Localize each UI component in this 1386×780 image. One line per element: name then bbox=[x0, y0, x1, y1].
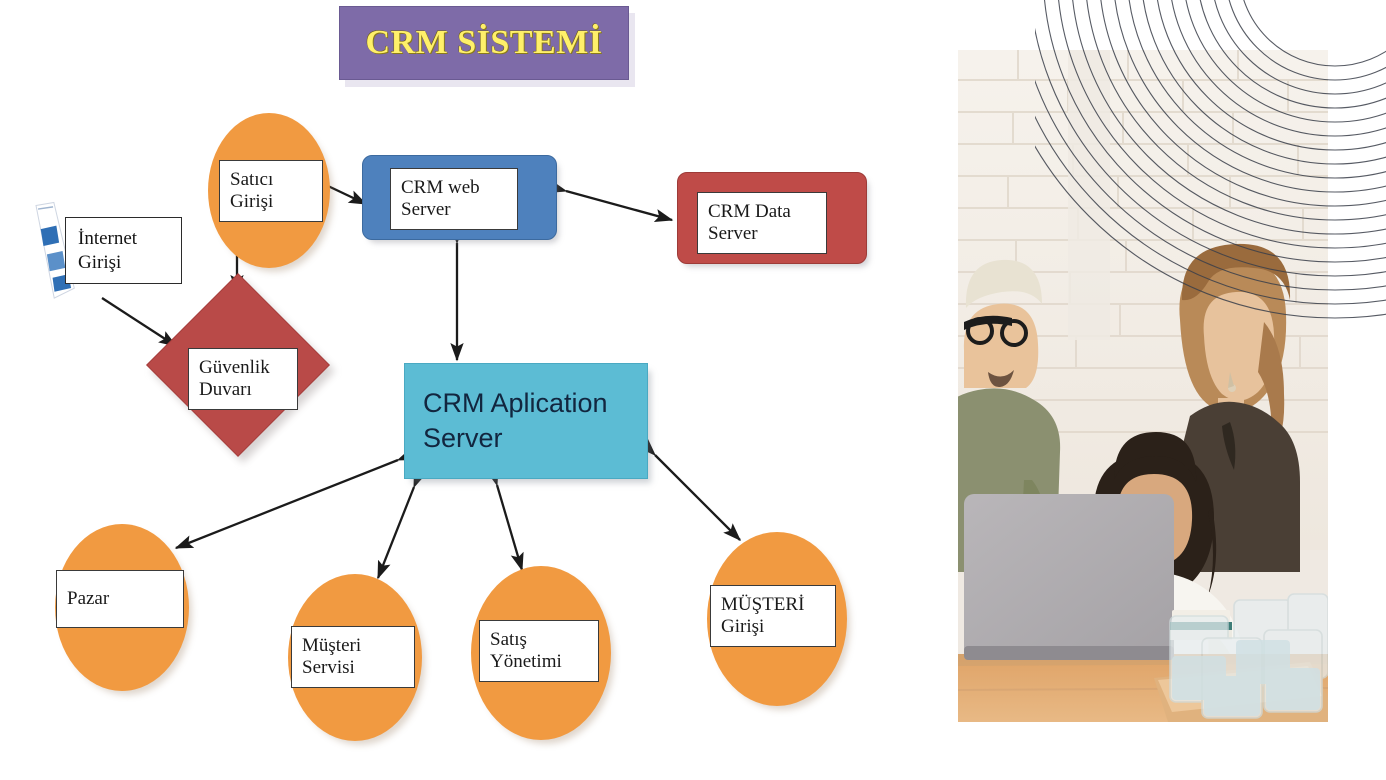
node-pazar-label: Pazar bbox=[56, 570, 184, 628]
team-photo bbox=[958, 50, 1328, 722]
node-satis-yonetimi-label: Satış Yönetimi bbox=[479, 620, 599, 682]
node-crm-data-server-label: CRM Data Server bbox=[697, 192, 827, 254]
node-crm-application-server[interactable]: CRM Aplication Server bbox=[404, 363, 648, 479]
connector-appserver-pazar bbox=[176, 460, 398, 548]
connector-internet-to-firewall bbox=[102, 298, 176, 346]
connector-appserver-satis-yonetimi bbox=[497, 485, 522, 570]
node-musteri-girisi-label: MÜŞTERİ Girişi bbox=[710, 585, 836, 647]
connector-webserver-dataserver bbox=[566, 191, 672, 220]
node-internet-girisi[interactable]: İnternet Girişi bbox=[65, 217, 182, 284]
node-musteri-servisi-label: Müşteri Servisi bbox=[291, 626, 415, 688]
node-guvenlik-duvari-label: Güvenlik Duvarı bbox=[188, 348, 298, 410]
connector-appserver-musteri-girisi bbox=[655, 455, 740, 540]
connector-appserver-musteri-servisi bbox=[378, 487, 414, 578]
node-crm-web-server-label: CRM web Server bbox=[390, 168, 518, 230]
slide-canvas: CRM SİSTEMİ bbox=[0, 0, 1386, 780]
node-satici-girisi-label: Satıcı Girişi bbox=[219, 160, 323, 222]
connector-satici-to-webserver bbox=[328, 186, 366, 204]
